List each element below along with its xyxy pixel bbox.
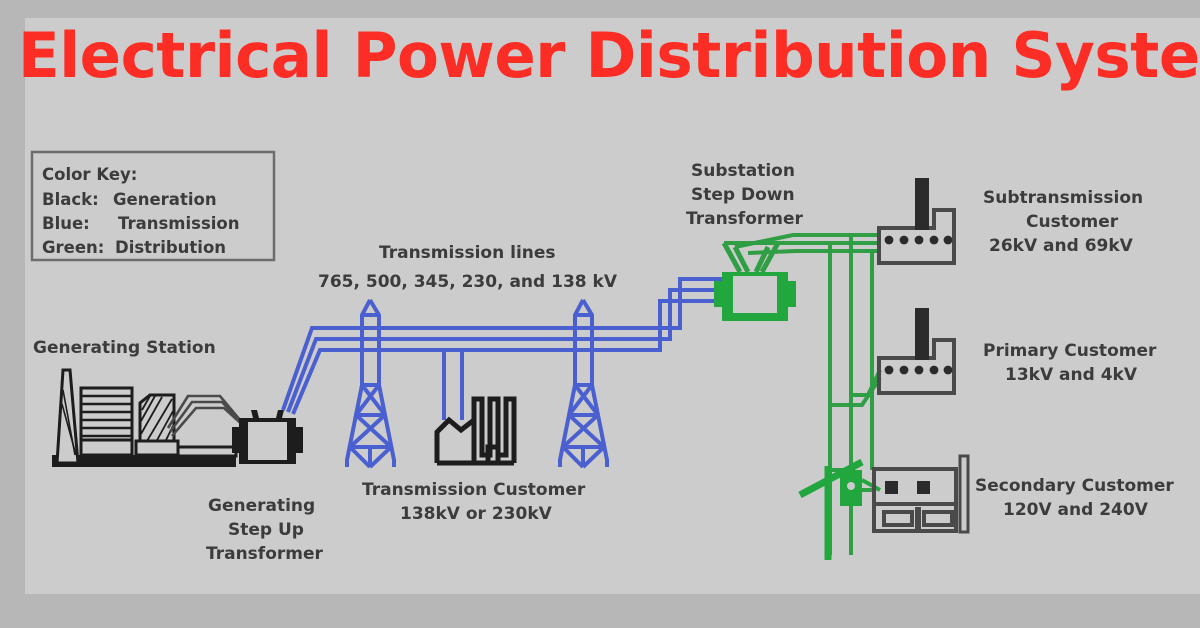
color-key-blue-meaning: Transmission xyxy=(118,214,240,233)
transmission-lines-title: Transmission lines xyxy=(379,243,556,263)
subtransmission-customer-label-line2: Customer xyxy=(1026,212,1119,232)
house-icon xyxy=(874,456,968,532)
transmission-tower-icon xyxy=(560,300,607,467)
color-key-blue-name: Blue: xyxy=(42,214,90,233)
transformer-icon xyxy=(232,410,303,464)
secondary-customer-label-line2: 120V and 240V xyxy=(1003,500,1149,520)
step-down-transformer-label-line2: Step Down xyxy=(691,185,795,205)
color-key: Color Key: Black: Generation Blue: Trans… xyxy=(32,152,274,260)
factory-icon xyxy=(879,308,954,393)
subtransmission-customer-label-line3: 26kV and 69kV xyxy=(989,236,1134,256)
color-key-green-meaning: Distribution xyxy=(115,238,226,257)
transmission-lines xyxy=(283,328,610,414)
step-down-transformer-label-line1: Substation xyxy=(691,161,795,181)
color-key-green-name: Green: xyxy=(42,238,104,257)
color-key-black-name: Black: xyxy=(42,190,99,209)
transmission-customer-label-line1: Transmission Customer xyxy=(362,480,586,500)
power-distribution-diagram: Color Key: Black: Generation Blue: Trans… xyxy=(0,0,1200,628)
factory-icon xyxy=(879,178,954,263)
step-up-transformer-label-line1: Generating xyxy=(208,496,315,516)
transmission-tower-icon xyxy=(347,300,394,467)
primary-customer-label-line1: Primary Customer xyxy=(983,341,1157,361)
secondary-customer-label-line1: Secondary Customer xyxy=(975,476,1174,496)
utility-pole-icon xyxy=(800,462,880,560)
color-key-black-meaning: Generation xyxy=(113,190,217,209)
factory-icon xyxy=(437,350,514,463)
generating-station-label: Generating Station xyxy=(33,338,216,358)
power-plant-icon xyxy=(52,370,246,467)
step-up-transformer-label-line2: Step Up xyxy=(228,520,304,540)
transmission-lines-voltages: 765, 500, 345, 230, and 138 kV xyxy=(318,272,618,292)
transmission-customer-label-line2: 138kV or 230kV xyxy=(400,504,553,524)
subtransmission-customer-label-line1: Subtransmission xyxy=(983,188,1143,208)
color-key-heading: Color Key: xyxy=(42,165,137,184)
step-down-transformer-label-line3: Transformer xyxy=(686,209,804,229)
diagram-canvas: Electrical Power Distribution System Col… xyxy=(0,0,1200,628)
step-up-transformer-label-line3: Transformer xyxy=(206,544,324,564)
primary-customer-label-line2: 13kV and 4kV xyxy=(1005,365,1138,385)
